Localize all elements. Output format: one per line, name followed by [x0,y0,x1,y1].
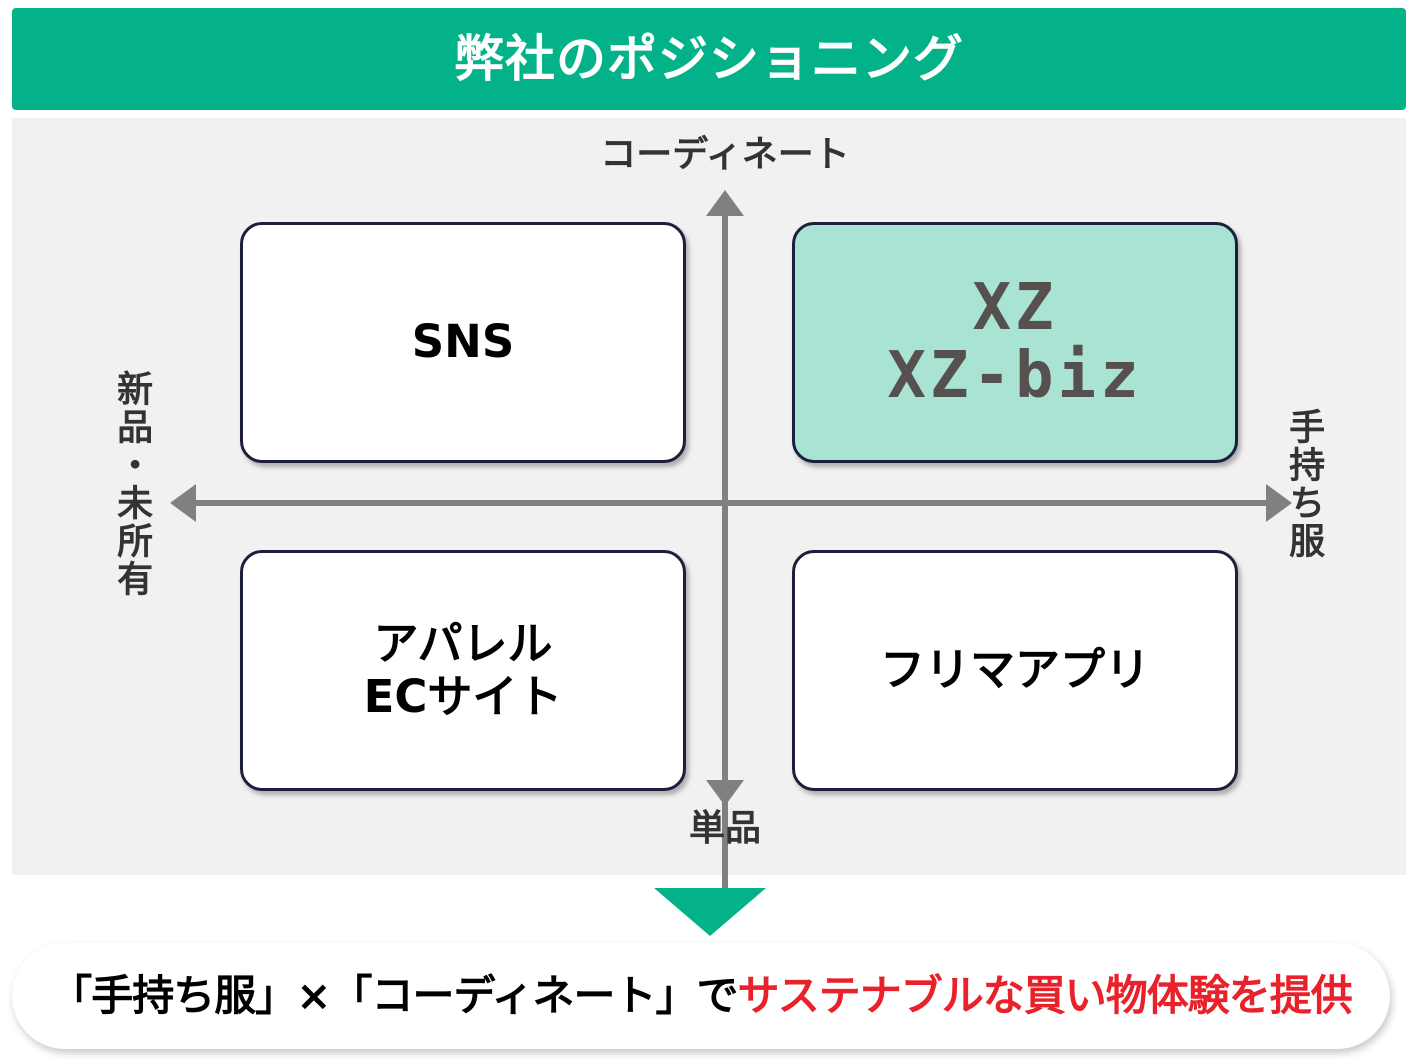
quadrant-box-apparel-ec[interactable]: アパレル ECサイト [240,550,686,791]
axis-label-right: 手持ち服 [1284,408,1322,560]
axis-label-left: 新品・未所有 [112,370,150,598]
axis-arrow-up-icon [706,190,744,216]
axis-arrow-left-icon [170,484,196,522]
quadrant-box-xz[interactable]: XZ XZ-biz [792,222,1238,463]
page-title-banner: 弊社のポジショニング [12,8,1406,110]
horizontal-axis-line [182,500,1282,506]
conclusion-banner: 「手持ち服」×「コーディネート」でサステナブルな買い物体験を提供 [12,943,1390,1049]
page-title: 弊社のポジショニング [454,34,964,84]
down-arrow-icon [654,888,766,936]
quadrant-box-sns[interactable]: SNS [240,222,686,463]
quadrant-label-xz: XZ XZ-biz [887,275,1142,411]
conclusion-text-red: サステナブルな買い物体験を提供 [738,971,1352,1020]
conclusion-text-black: 「手持ち服」×「コーディネート」で [50,971,737,1020]
conclusion-text: 「手持ち服」×「コーディネート」でサステナブルな買い物体験を提供 [50,975,1351,1017]
axis-arrow-down-icon [706,780,744,806]
quadrant-label-sns: SNS [412,316,514,368]
axis-label-bottom: 単品 [689,810,761,848]
quadrant-label-flea-market-app: フリマアプリ [880,644,1150,696]
quadrant-box-flea-market-app[interactable]: フリマアプリ [792,550,1238,791]
quadrant-label-apparel-ec: アパレル ECサイト [364,618,563,722]
positioning-matrix-panel: コーディネート 単品 新品・未所有 手持ち服 SNS XZ XZ-biz アパレ… [12,118,1406,875]
axis-label-top: コーディネート [600,136,849,174]
